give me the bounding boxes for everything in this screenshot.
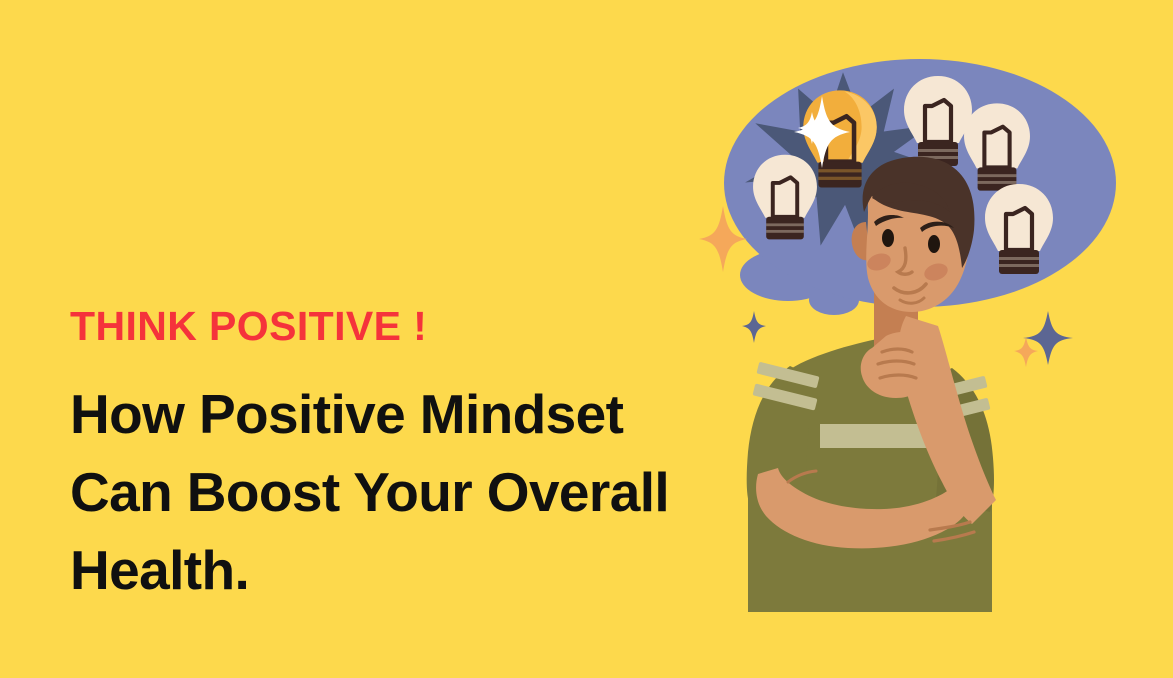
headline-line-3: Health. [70,531,710,609]
headline-text-block: THINK POSITIVE ! How Positive Mindset Ca… [70,306,710,609]
eyebrow-label: THINK POSITIVE ! [70,306,710,347]
headline-line-2: Can Boost Your Overall [70,453,710,531]
promo-banner: THINK POSITIVE ! How Positive Mindset Ca… [0,0,1173,678]
eye-left [882,229,894,247]
page-title: How Positive Mindset Can Boost Your Over… [70,375,710,609]
headline-line-1: How Positive Mindset [70,375,710,453]
eye-right [928,235,940,253]
